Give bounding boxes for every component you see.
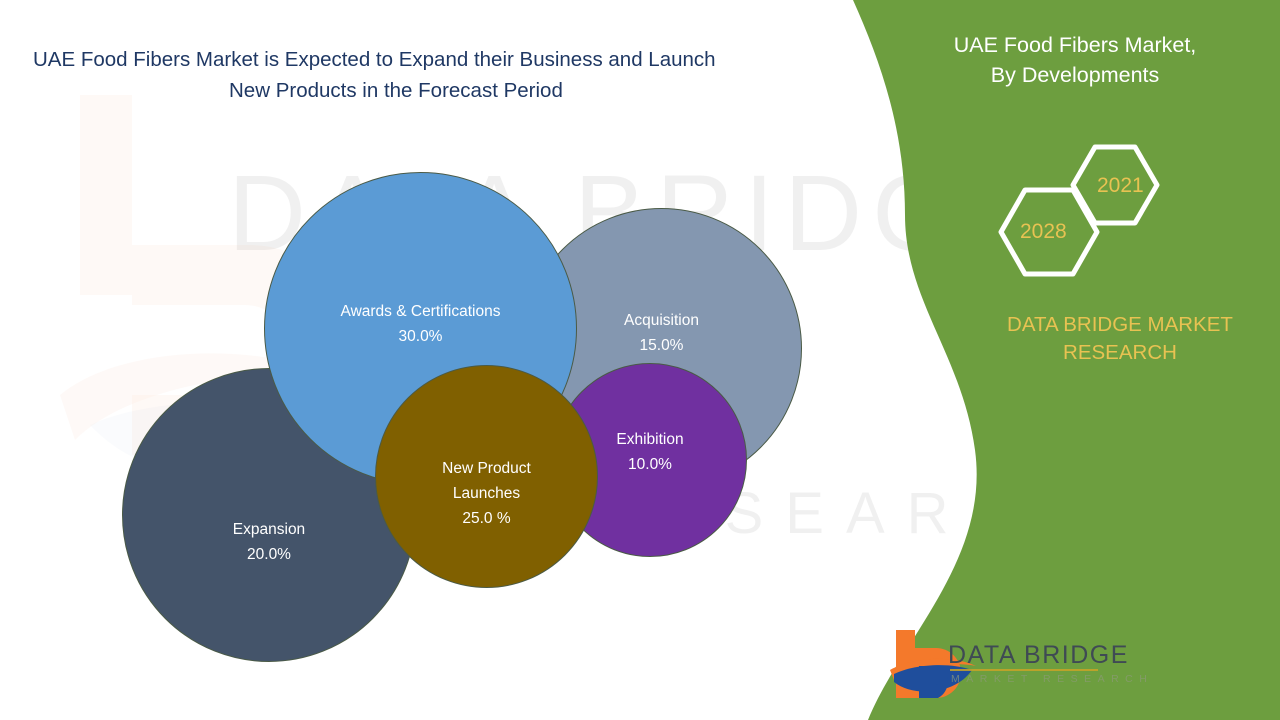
- hexagon-group: [985, 140, 1185, 290]
- bubble-awards-value: 30.0%: [341, 324, 501, 349]
- hexagon-2021-label: 2021: [1097, 174, 1144, 198]
- hexagon-2028-label: 2028: [1020, 220, 1067, 244]
- bubble-new-product-value: 25.0 %: [442, 506, 531, 531]
- bubble-expansion-value: 20.0%: [233, 542, 305, 567]
- panel-title: UAE Food Fibers Market, By Developments: [920, 30, 1230, 90]
- bubble-exhibition-label: Exhibition 10.0%: [610, 427, 689, 477]
- bubble-new-product-label: New Product Launches 25.0 %: [436, 456, 537, 531]
- panel-title-line-2: By Developments: [920, 60, 1230, 90]
- brand-line-1: DATA BRIDGE MARKET: [955, 311, 1280, 339]
- logo-wordmark: DATA BRIDGE: [948, 641, 1129, 670]
- logo-subwordmark: MARKET RESEARCH: [951, 673, 1153, 685]
- panel-title-line-1: UAE Food Fibers Market,: [920, 30, 1230, 60]
- bubble-acquisition-name: Acquisition: [624, 312, 699, 329]
- bubble-expansion-label: Expansion 20.0%: [227, 517, 311, 567]
- bubble-exhibition-name: Exhibition: [616, 431, 683, 448]
- bubble-new-product-launches[interactable]: New Product Launches 25.0 %: [375, 365, 598, 588]
- bubble-awards-name: Awards & Certifications: [341, 303, 501, 320]
- bubble-new-product-name-line1: New Product: [442, 460, 531, 477]
- bubble-exhibition-value: 10.0%: [616, 452, 683, 477]
- bubble-acquisition-value: 15.0%: [624, 333, 699, 358]
- brand-name: DATA BRIDGE MARKET RESEARCH: [955, 311, 1280, 367]
- infographic-slide: DATA BRIDGE RESEARCH UAE Food Fibers Mar…: [0, 0, 1280, 720]
- bubble-new-product-name-line2: Launches: [442, 481, 531, 506]
- brand-line-2: RESEARCH: [955, 339, 1280, 367]
- bubble-awards-label: Awards & Certifications 30.0%: [335, 299, 507, 349]
- bubble-acquisition-label: Acquisition 15.0%: [618, 308, 705, 358]
- bubble-expansion-name: Expansion: [233, 521, 305, 538]
- bubble-chart: Expansion 20.0% Acquisition 15.0% Awards…: [0, 0, 900, 720]
